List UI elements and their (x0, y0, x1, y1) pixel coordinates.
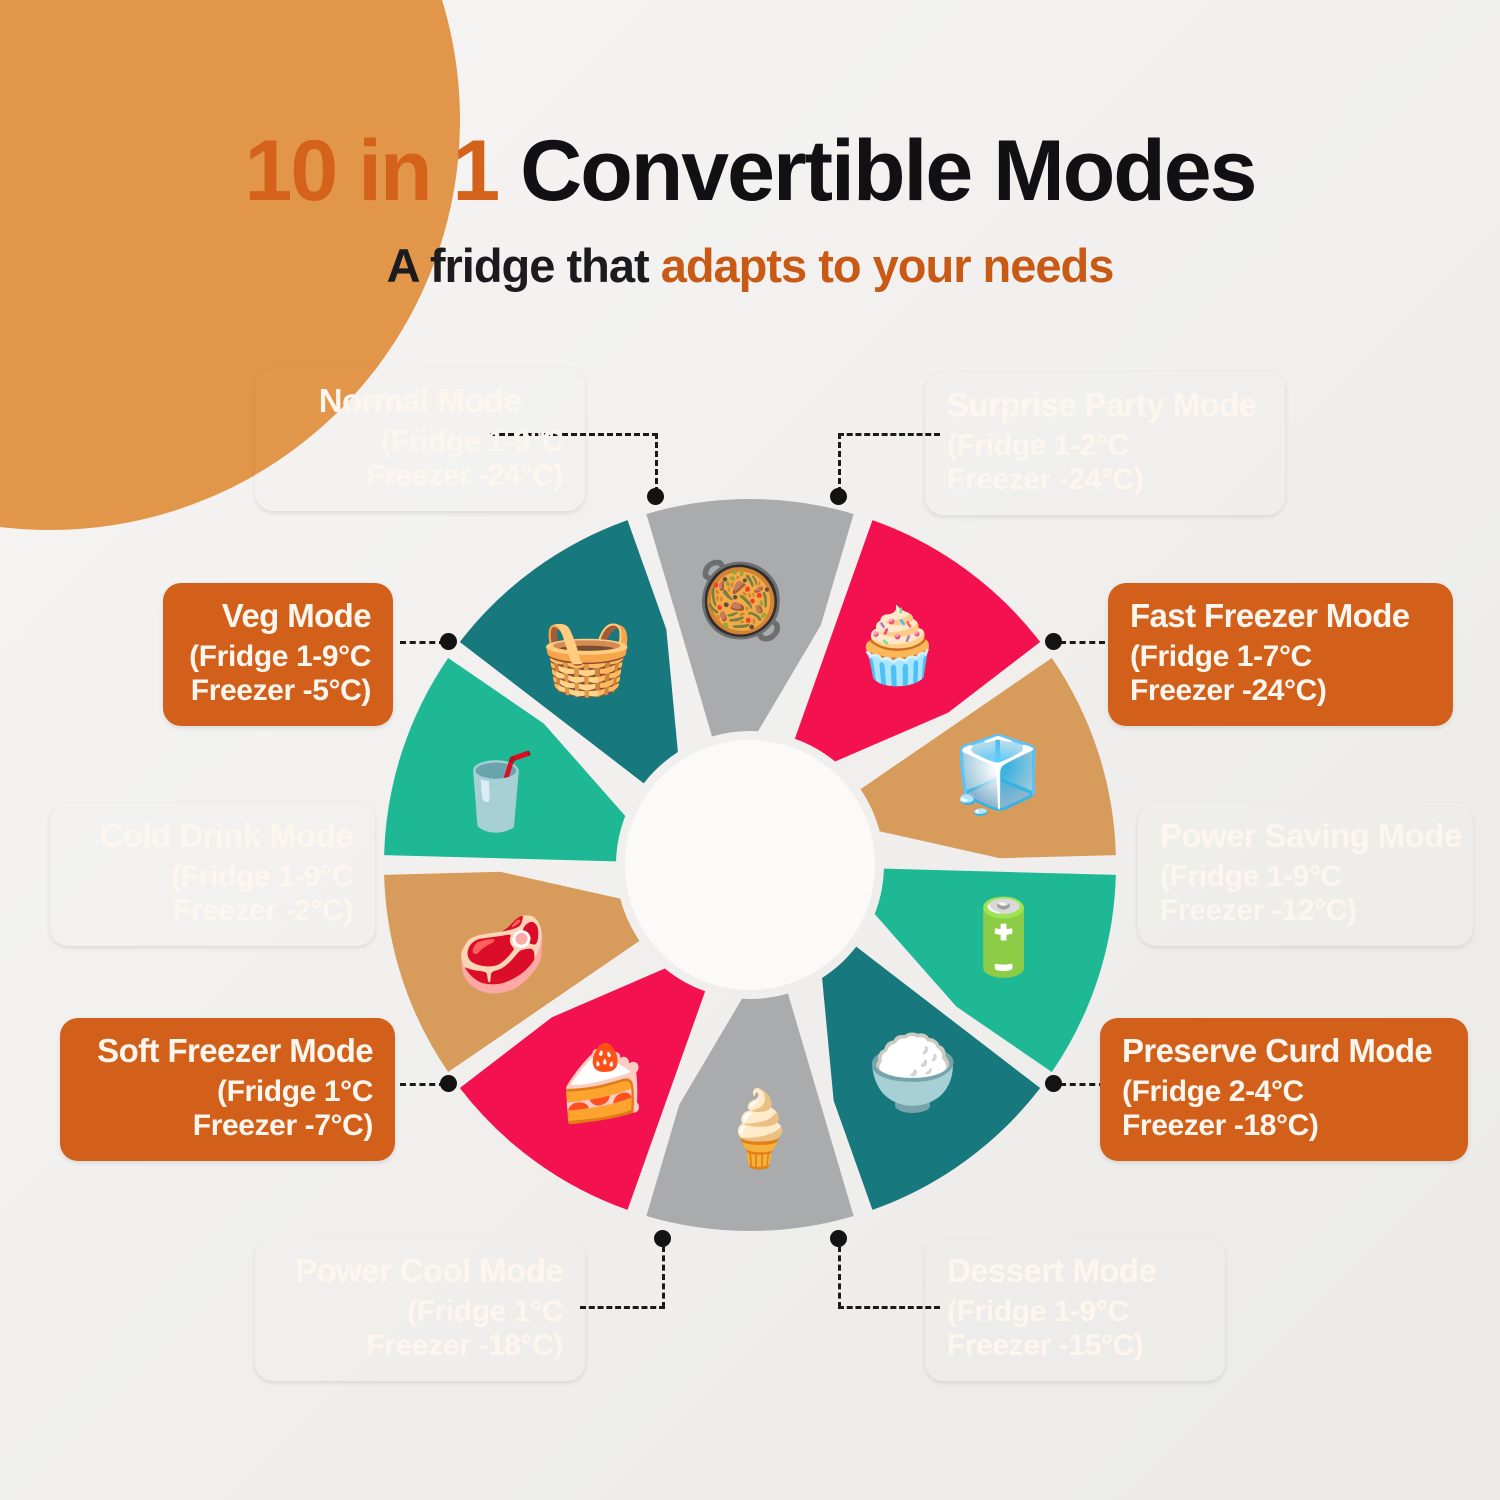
label-power-saving-mode[interactable]: Power Saving Mode (Fridge 1-9°C Freezer … (1138, 803, 1473, 946)
label-dessert-mode[interactable]: Dessert Mode (Fridge 1-9°C Freezer -15°C… (925, 1238, 1225, 1381)
label-normal-mode[interactable]: Normal Mode (Fridge 1-9°C Freezer -24°C) (255, 368, 585, 511)
label-name: Power Cool Mode (277, 1252, 563, 1291)
page-title: 10 in 1 Convertible Modes (0, 122, 1500, 221)
subtitle-plain: A fridge that (387, 239, 661, 292)
cake-slice-icon: 🍰 (546, 1028, 658, 1140)
label-name: Preserve Curd Mode (1122, 1032, 1446, 1071)
convertible-modes-wheel: 🥘🧁🧊🔋🍚🍦🍰🥩🥤🧺 (370, 485, 1130, 1245)
connector-preserve-curd (1045, 1075, 1105, 1095)
title-highlight: 10 in 1 (245, 123, 499, 219)
rice-bowl-icon: 🥘 (685, 545, 797, 657)
wheel-hub (625, 740, 875, 990)
cold-drink-icon: 🥤 (440, 736, 552, 848)
label-temp-line1: (Fridge 2-4°C (1122, 1075, 1446, 1109)
label-temp-line2: Freezer -24°C) (1130, 674, 1431, 708)
label-temp-line2: Freezer -18°C) (1122, 1109, 1446, 1143)
page-subtitle: A fridge that adapts to your needs (0, 238, 1500, 293)
raw-meat-icon: 🥩 (446, 899, 558, 1011)
label-temp-line2: Freezer -2°C) (72, 894, 353, 928)
subtitle-highlight: adapts to your needs (661, 239, 1114, 292)
connector-power-cool (580, 1230, 670, 1310)
label-power-cool-mode[interactable]: Power Cool Mode (Fridge 1°C Freezer -18°… (255, 1238, 585, 1381)
label-temp-line1: (Fridge 1-7°C (1130, 640, 1431, 674)
label-temp-line2: Freezer -24°C) (947, 463, 1263, 497)
label-temp-line1: (Fridge 1-9°C (277, 425, 563, 459)
label-temp-line2: Freezer -7°C) (82, 1109, 373, 1143)
label-cold-drink-mode[interactable]: Cold Drink Mode (Fridge 1-9°C Freezer -2… (50, 803, 375, 946)
label-name: Cold Drink Mode (72, 817, 353, 856)
connector-surprise-party (830, 433, 940, 503)
label-temp-line2: Freezer -18°C) (277, 1329, 563, 1363)
curd-bowl-icon: 🍚 (857, 1017, 969, 1129)
label-name: Surprise Party Mode (947, 386, 1263, 425)
label-temp-line1: (Fridge 1-2°C (947, 429, 1263, 463)
battery-icon: 🔋 (948, 882, 1060, 994)
label-temp-line1: (Fridge 1-9°C (72, 860, 353, 894)
ice-cream-icon: 🍦 (703, 1073, 815, 1185)
title-rest: Convertible Modes (520, 123, 1255, 219)
label-temp-line1: (Fridge 1-9°C (1160, 860, 1451, 894)
label-name: Soft Freezer Mode (82, 1032, 373, 1071)
label-temp-line1: (Fridge 1°C (82, 1075, 373, 1109)
label-preserve-curd-mode[interactable]: Preserve Curd Mode (Fridge 2-4°C Freezer… (1100, 1018, 1468, 1161)
label-temp-line2: Freezer -5°C) (185, 674, 371, 708)
connector-veg (400, 633, 460, 653)
label-fast-freezer-mode[interactable]: Fast Freezer Mode (Fridge 1-7°C Freezer … (1108, 583, 1453, 726)
label-name: Power Saving Mode (1160, 817, 1451, 856)
connector-fast-freezer (1045, 633, 1105, 653)
label-soft-freezer-mode[interactable]: Soft Freezer Mode (Fridge 1°C Freezer -7… (60, 1018, 395, 1161)
label-name: Dessert Mode (947, 1252, 1203, 1291)
label-temp-line1: (Fridge 1-9°C (947, 1295, 1203, 1329)
label-veg-mode[interactable]: Veg Mode (Fridge 1-9°C Freezer -5°C) (163, 583, 393, 726)
label-name: Normal Mode (277, 382, 563, 421)
label-temp-line1: (Fridge 1°C (277, 1295, 563, 1329)
veg-basket-icon: 🧺 (531, 601, 643, 713)
ice-cubes-icon: 🧊 (942, 719, 1054, 831)
label-temp-line2: Freezer -15°C) (947, 1329, 1203, 1363)
connector-soft-freezer (400, 1075, 460, 1095)
label-temp-line1: (Fridge 1-9°C (185, 640, 371, 674)
label-name: Fast Freezer Mode (1130, 597, 1431, 636)
connector-dessert (830, 1230, 940, 1310)
label-name: Veg Mode (185, 597, 371, 636)
cupcake-icon: 🧁 (842, 590, 954, 702)
label-surprise-party-mode[interactable]: Surprise Party Mode (Fridge 1-2°C Freeze… (925, 372, 1285, 515)
label-temp-line2: Freezer -24°C) (277, 459, 563, 493)
label-temp-line2: Freezer -12°C) (1160, 894, 1451, 928)
